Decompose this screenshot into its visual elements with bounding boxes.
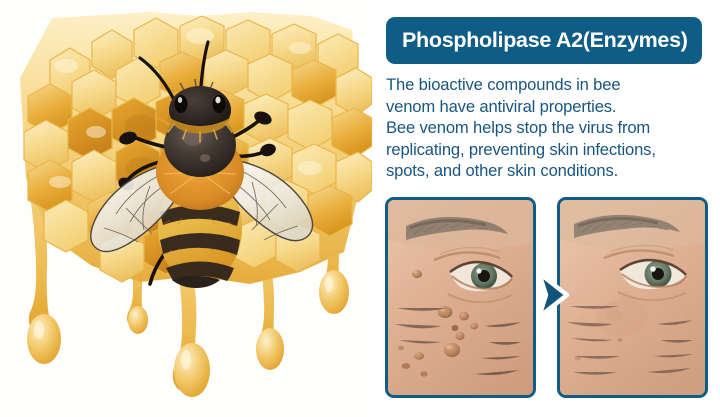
title-badge: Phospholipase A2(Enzymes) (386, 17, 702, 64)
skin-before-photo (385, 197, 536, 398)
content-panel: Phospholipase A2(Enzymes) The bioactive … (372, 0, 720, 417)
skin-after-photo (557, 197, 708, 398)
bee-honeycomb-illustration (0, 0, 372, 417)
before-after-comparison (385, 197, 708, 398)
page-title: Phospholipase A2(Enzymes) (402, 30, 688, 52)
infographic-root: Phospholipase A2(Enzymes) The bioactive … (0, 0, 720, 417)
body-line-5: spots, and other skin conditions. (386, 160, 712, 182)
body-line-2: venom have antiviral properties. (386, 96, 712, 118)
body-copy: The bioactive compounds in bee venom hav… (386, 74, 712, 182)
body-line-1: The bioactive compounds in bee (386, 74, 712, 96)
body-line-3: Bee venom helps stop the virus from (386, 117, 712, 139)
body-line-4: replicating, preventing skin infections, (386, 139, 712, 161)
